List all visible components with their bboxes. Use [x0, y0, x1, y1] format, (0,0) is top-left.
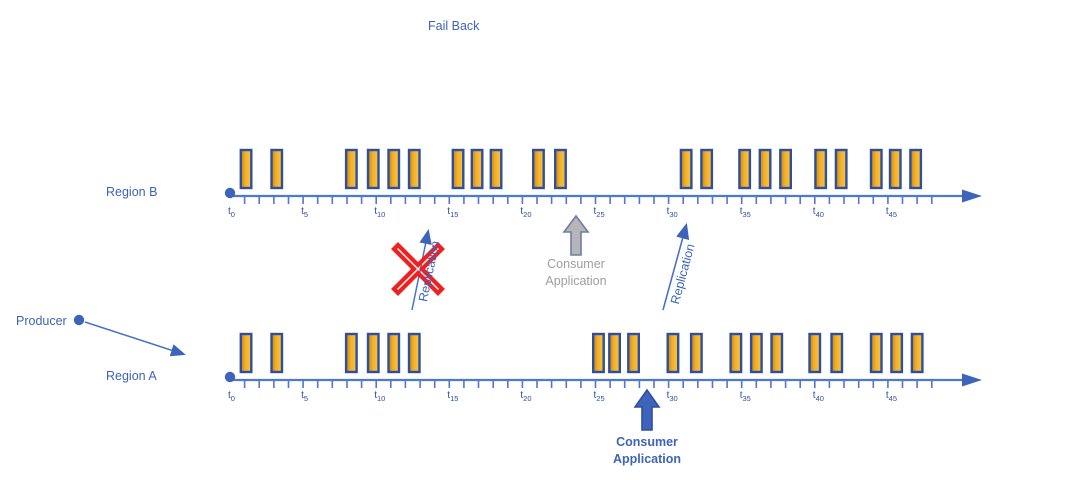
axis-tick-label: t30	[667, 390, 678, 403]
timeline-event-bar	[701, 150, 712, 188]
region-b-bars	[241, 150, 921, 188]
timeline-event-bar	[389, 334, 400, 372]
timeline-event-bar	[681, 150, 692, 188]
axis-tick-label: t5	[301, 206, 308, 219]
axis-tick-label: t35	[740, 390, 751, 403]
consumer-app-region-a-line2: Application	[597, 451, 697, 468]
region-b-label: Region B	[106, 185, 157, 199]
producer-dot	[74, 315, 84, 325]
timeline-event-bar	[871, 334, 882, 372]
timeline-event-bar	[832, 334, 843, 372]
axis-tick-label: t0	[228, 206, 235, 219]
axis-origin-dot-a	[225, 372, 235, 382]
timeline-event-bar	[772, 334, 783, 372]
timeline-event-bar	[409, 334, 420, 372]
timeline-event-bar	[491, 150, 502, 188]
region-a-bars	[241, 334, 923, 372]
axis-tick-label: t20	[520, 390, 531, 403]
timeline-event-bar	[628, 334, 639, 372]
timeline-event-bar	[751, 334, 762, 372]
timeline-event-bar	[389, 150, 400, 188]
timeline-event-bar	[368, 334, 379, 372]
timeline-event-bar	[533, 150, 544, 188]
axis-tick-label: t15	[447, 206, 458, 219]
timeline-event-bar	[346, 334, 357, 372]
consumer-app-arrow-region-a	[635, 390, 659, 430]
producer-connector	[74, 315, 183, 354]
timeline-event-bar	[815, 150, 826, 188]
diagram-svg	[0, 0, 1068, 480]
timeline-event-bar	[891, 334, 902, 372]
axis-tick-label: t0	[228, 390, 235, 403]
timeline-event-bar	[890, 150, 901, 188]
timeline-event-bar	[668, 334, 679, 372]
timeline-event-bar	[912, 334, 923, 372]
timeline-event-bar	[272, 334, 283, 372]
timeline-event-bar	[739, 150, 750, 188]
timeline-event-bar	[609, 334, 620, 372]
axis-tick-label: t40	[813, 206, 824, 219]
axis-arrow-head-a	[962, 374, 982, 387]
timeline-event-bar	[346, 150, 357, 188]
consumer-app-region-a-line1: Consumer	[597, 434, 697, 451]
consumer-app-region-b-line2: Application	[526, 273, 626, 290]
axis-tick-label: t5	[301, 390, 308, 403]
axis-tick-label: t10	[374, 206, 385, 219]
region-b-axis	[225, 188, 982, 204]
axis-tick-label: t15	[447, 390, 458, 403]
timeline-event-bar	[593, 334, 604, 372]
axis-tick-label: t35	[740, 206, 751, 219]
consumer-app-region-b-line1: Consumer	[526, 256, 626, 273]
producer-arrow	[85, 322, 183, 354]
axis-tick-label: t30	[667, 206, 678, 219]
timeline-event-bar	[780, 150, 791, 188]
timeline-event-bar	[368, 150, 379, 188]
timeline-event-bar	[272, 150, 283, 188]
axis-tick-label: t25	[594, 206, 605, 219]
consumer-app-region-b-label: Consumer Application	[526, 256, 626, 290]
timeline-event-bar	[760, 150, 771, 188]
axis-tick-label: t20	[520, 206, 531, 219]
region-a-label: Region A	[106, 369, 157, 383]
timeline-event-bar	[910, 150, 921, 188]
timeline-event-bar	[453, 150, 464, 188]
timeline-event-bar	[555, 150, 566, 188]
axis-origin-dot-b	[225, 188, 235, 198]
axis-tick-label: t25	[594, 390, 605, 403]
axis-tick-label: t40	[813, 390, 824, 403]
producer-label: Producer	[16, 314, 67, 328]
timeline-event-bar	[731, 334, 742, 372]
consumer-app-region-a-label: Consumer Application	[597, 434, 697, 468]
axis-tick-label: t45	[886, 390, 897, 403]
timeline-event-bar	[871, 150, 882, 188]
timeline-event-bar	[241, 150, 252, 188]
timeline-event-bar	[810, 334, 821, 372]
axis-tick-label: t10	[374, 390, 385, 403]
page-title: Fail Back	[428, 19, 479, 33]
timeline-event-bar	[836, 150, 847, 188]
diagram-canvas: Fail Back Region B Region A Producer Rep…	[0, 0, 1068, 480]
axis-tick-label: t45	[886, 206, 897, 219]
timeline-event-bar	[241, 334, 252, 372]
axis-arrow-head-b	[962, 190, 982, 203]
timeline-event-bar	[691, 334, 702, 372]
consumer-app-arrow-region-b	[564, 216, 588, 255]
timeline-event-bar	[409, 150, 420, 188]
timeline-event-bar	[472, 150, 483, 188]
region-a-axis	[225, 372, 982, 388]
